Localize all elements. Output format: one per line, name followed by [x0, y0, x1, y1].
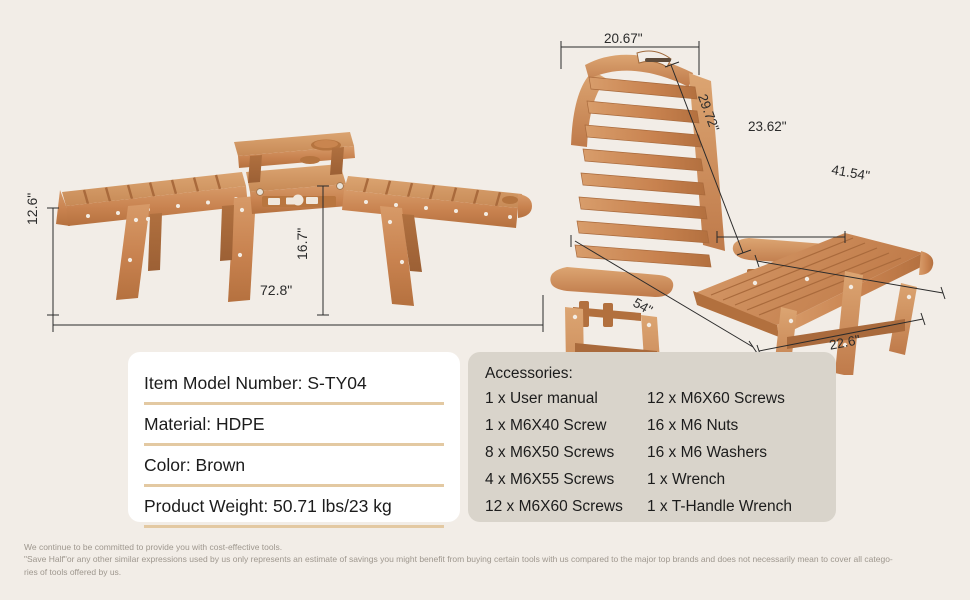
accessories-title: Accessories: — [485, 365, 836, 383]
accessories-grid: 1 x User manual 12 x M6X60 Screws 1 x M6… — [485, 386, 836, 519]
spec-text-product-weight: Product Weight: 50.71 lbs/23 kg — [144, 496, 392, 517]
chaise-reclined-view-diagram — [545, 25, 965, 375]
accessories-panel: Accessories: 1 x User manual 12 x M6X60 … — [468, 352, 836, 522]
footer-line-1: We continue to be committed to provide y… — [24, 541, 954, 553]
spec-row-material: Material: HDPE — [144, 405, 444, 446]
spec-text-color: Color: Brown — [144, 455, 245, 476]
accessory-item: 16 x M6 Nuts — [647, 413, 836, 438]
spec-row-product-weight: Product Weight: 50.71 lbs/23 kg — [144, 487, 444, 528]
dim-label-72-8: 72.8" — [260, 282, 292, 298]
product-spec-panel: Item Model Number: S-TY04 Material: HDPE… — [128, 352, 460, 522]
accessory-item: 8 x M6X50 Screws — [485, 440, 647, 465]
dim-label-12-6: 12.6" — [24, 193, 40, 225]
footer-disclaimer: We continue to be committed to provide y… — [24, 541, 954, 578]
spec-row-color: Color: Brown — [144, 446, 444, 487]
flat-chaise-illustration — [56, 132, 532, 306]
reclined-chaise-illustration — [550, 50, 933, 375]
dim-label-23-62: 23.62" — [748, 119, 787, 134]
accessory-item: 1 x M6X40 Screw — [485, 413, 647, 438]
spec-row-model-number: Item Model Number: S-TY04 — [144, 364, 444, 405]
dim-label-16-7: 16.7" — [294, 228, 310, 260]
accessory-item: 16 x M6 Washers — [647, 440, 836, 465]
footer-line-2: "Save Half"or any other similar expressi… — [24, 553, 954, 565]
accessory-item: 12 x M6X60 Screws — [485, 494, 647, 519]
accessory-item: 4 x M6X55 Screws — [485, 467, 647, 492]
accessory-item: 1 x Wrench — [647, 467, 836, 492]
accessory-item: 1 x User manual — [485, 386, 647, 411]
dim-label-20-67: 20.67" — [604, 31, 643, 46]
footer-line-3: ries of tools offered by us. — [24, 566, 954, 578]
spec-text-material: Material: HDPE — [144, 414, 265, 435]
spec-text-model-number: Item Model Number: S-TY04 — [144, 373, 367, 394]
accessory-item: 1 x T-Handle Wrench — [647, 494, 836, 519]
accessory-item: 12 x M6X60 Screws — [647, 386, 836, 411]
product-spec-sheet: 12.6" 16.7" 72.8" — [0, 0, 970, 600]
